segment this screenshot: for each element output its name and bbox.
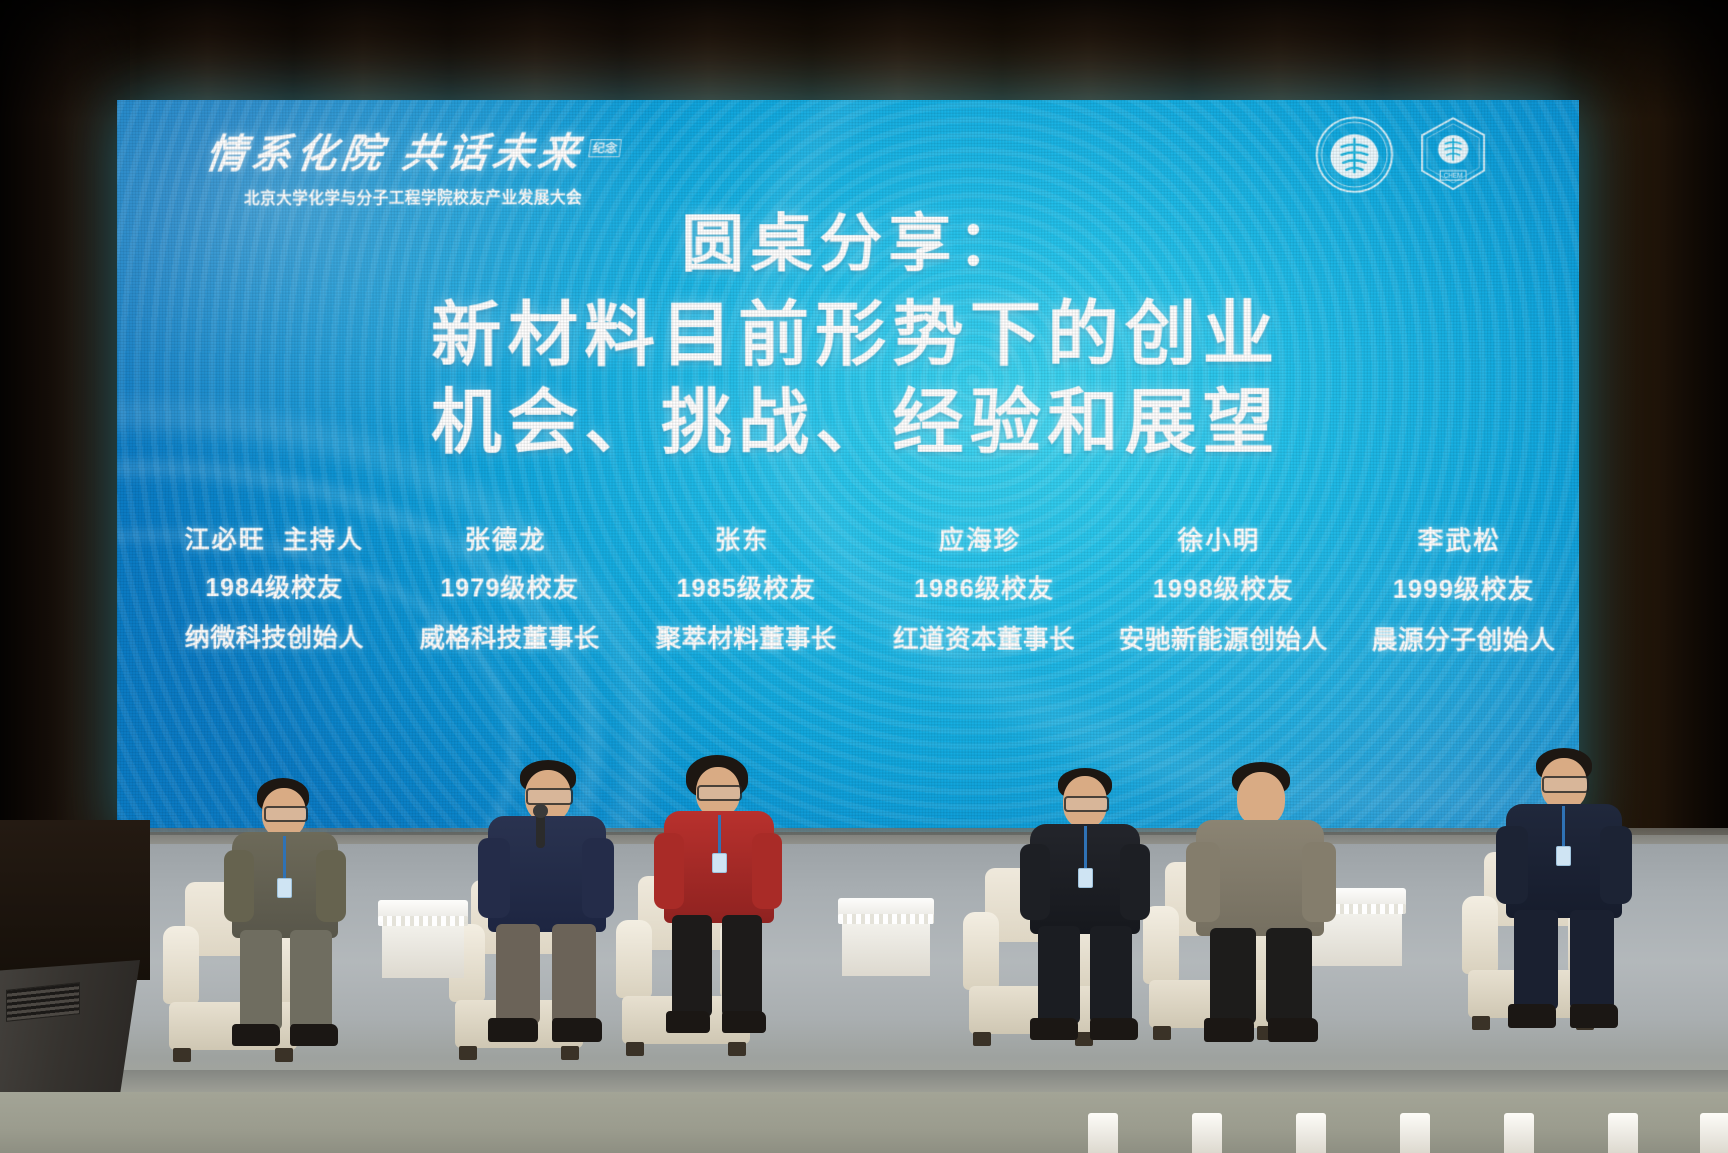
leg-left [240,930,282,1030]
arm-left [1496,826,1528,904]
panelist-class-year: 1998级校友 [1103,569,1343,606]
logo-group: CHEM [1314,115,1489,195]
shoe-left [232,1024,280,1046]
panelist-name-role: 张德龙 [392,520,628,556]
leg-right [552,924,596,1024]
panelist-figure [210,778,360,1068]
chair-foot [973,1032,991,1046]
panelist-class-year: 1984级校友 [157,568,392,604]
handheld-microphone-icon [536,814,545,848]
panelist-class-year: 1985级校友 [628,569,865,606]
slide-title-line-3: 机会、挑战、经验和展望 [117,379,1579,466]
panelist-name: 张东 [715,526,770,554]
table-skirt [382,920,464,978]
arm-right [1302,842,1336,922]
brand-calligraphy: 情系化院 共话未来纪念 [173,120,653,180]
shoe-right [1090,1018,1138,1040]
panelist-column: 李武松 1999级校友 晨源分子创始人 [1343,521,1579,657]
table-skirt [842,918,930,976]
arm-right [752,833,782,909]
led-presentation-screen: 情系化院 共话未来纪念 北京大学化学与分子工程学院校友产业发展大会 [117,100,1579,840]
glasses-icon [1542,776,1589,793]
panelist-org-title: 安驰新能源创始人 [1103,620,1343,657]
lanyard [718,815,721,855]
leg-left [496,924,540,1024]
stage-monitor-speaker [0,960,140,1092]
chair-foot [173,1048,191,1062]
panelist-name-role: 江必旺 主持人 [157,520,392,556]
slide-title-block: 圆桌分享： 新材料目前形势下的创业 机会、挑战、经验和展望 [117,204,1579,467]
lanyard [1562,806,1565,848]
lanyard [283,836,286,880]
glasses-icon [1064,796,1109,812]
leg-right [1266,928,1312,1024]
panelist-org-title: 聚萃材料董事长 [628,619,865,656]
brand-seal-stamp: 纪念 [589,139,622,157]
shoe-right [722,1011,766,1033]
shoe-left [1508,1004,1556,1028]
panelist-name-role: 应海珍 [865,520,1103,557]
leg-left [672,915,712,1017]
head [1237,772,1285,826]
glasses-icon [697,785,742,801]
arm-right [582,838,614,918]
panelist-figure [1488,748,1640,1046]
panelist-name: 应海珍 [939,527,1022,555]
name-badge [1556,846,1571,866]
shoe-left [1030,1018,1078,1040]
shoe-left [488,1018,538,1042]
side-table [838,898,934,986]
panelist-column: 江必旺 主持人 1984级校友 纳微科技创始人 [157,520,392,655]
panelist-class-year: 1986级校友 [865,569,1103,606]
chair-arm-left [963,912,999,990]
audience-chair-back [1088,1113,1118,1153]
arm-right [316,850,346,922]
shoe-right [1268,1018,1318,1042]
panelist-role: 主持人 [283,526,364,554]
table-lace-trim [838,914,934,924]
stage-front-carpet [0,1092,1728,1153]
event-brand-lockup: 情系化院 共话未来纪念 北京大学化学与分子工程学院校友产业发展大会 [177,120,650,209]
panelist-figure [1182,762,1342,1054]
panelist-name-role: 徐小明 [1103,521,1343,558]
audience-chair-back [1400,1113,1430,1153]
name-badge [277,878,292,898]
panelist-roster: 江必旺 主持人 1984级校友 纳微科技创始人 张德龙 1979级校友 威格科技… [157,520,1579,657]
chair-arm-left [163,926,199,1004]
shoe-right [1570,1004,1618,1028]
audience-chair-back [1608,1113,1638,1153]
name-badge [712,853,727,873]
conference-stage-photo: 情系化院 共话未来纪念 北京大学化学与分子工程学院校友产业发展大会 [0,0,1728,1153]
chem-college-hex-icon: CHEM [1417,115,1489,194]
panelist-figure [1010,768,1160,1058]
panelist-class-year: 1999级校友 [1343,569,1579,606]
leg-right [722,915,762,1017]
panelist-column: 徐小明 1998级校友 安驰新能源创始人 [1103,521,1343,657]
panelist-figure [470,760,626,1060]
arm-right [1600,826,1632,904]
leg-right [1090,926,1132,1024]
panelist-name: 徐小明 [1178,527,1261,555]
slide-title-line-2: 新材料目前形势下的创业 [117,291,1579,379]
arm-left [478,838,510,918]
arm-left [1186,842,1220,922]
panelist-org-title: 威格科技董事长 [392,618,628,655]
audience-chair-back [1192,1113,1222,1153]
panelist-column: 张德龙 1979级校友 威格科技董事长 [392,520,628,655]
glasses-icon [526,788,573,805]
panelist-name: 李武松 [1418,527,1501,555]
audience-chair-back [1296,1113,1326,1153]
leg-left [1210,928,1256,1024]
microphone-head [533,804,548,818]
panelist-figure [642,755,792,1055]
panelist-name: 张德龙 [465,526,547,554]
table-lace-trim [378,916,468,926]
glasses-icon [264,806,308,822]
slide-title-line-1: 圆桌分享： [117,204,1579,286]
panelist-column: 应海珍 1986级校友 红道资本董事长 [865,520,1103,656]
shoe-left [1204,1018,1254,1042]
panelist-org-title: 纳微科技创始人 [157,618,392,654]
audience-chair-back [1700,1113,1728,1153]
side-table [378,900,468,986]
brand-calligraphy-text: 情系化院 共话未来 [203,130,586,176]
leg-left [1038,926,1080,1024]
peking-university-seal-icon [1314,115,1394,194]
shoe-right [290,1024,338,1046]
panelist-name-role: 张东 [628,520,865,556]
brand-subtitle: 北京大学化学与分子工程学院校友产业发展大会 [177,185,650,209]
arm-right [1120,844,1150,920]
arm-left [224,850,254,922]
panelist-column: 张东 1985级校友 聚萃材料董事长 [628,520,865,655]
speaker-grill [6,982,80,1022]
shoe-left [666,1011,710,1033]
panelist-org-title: 红道资本董事长 [865,619,1103,656]
arm-left [1020,844,1050,920]
panelist-class-year: 1979级校友 [392,568,628,604]
name-badge [1078,868,1093,888]
panelist-name-role: 李武松 [1343,521,1579,558]
leg-right [1570,910,1614,1010]
audience-chair-back [1504,1113,1534,1153]
leg-left [1514,910,1558,1010]
lanyard [1084,826,1087,870]
panelist-org-title: 晨源分子创始人 [1343,620,1579,657]
svg-text:CHEM: CHEM [1444,173,1463,180]
panelist-name: 江必旺 [185,526,266,554]
shoe-right [552,1018,602,1042]
arm-left [654,833,684,909]
stage-left-dark-curtain [0,820,150,980]
leg-right [290,930,332,1030]
